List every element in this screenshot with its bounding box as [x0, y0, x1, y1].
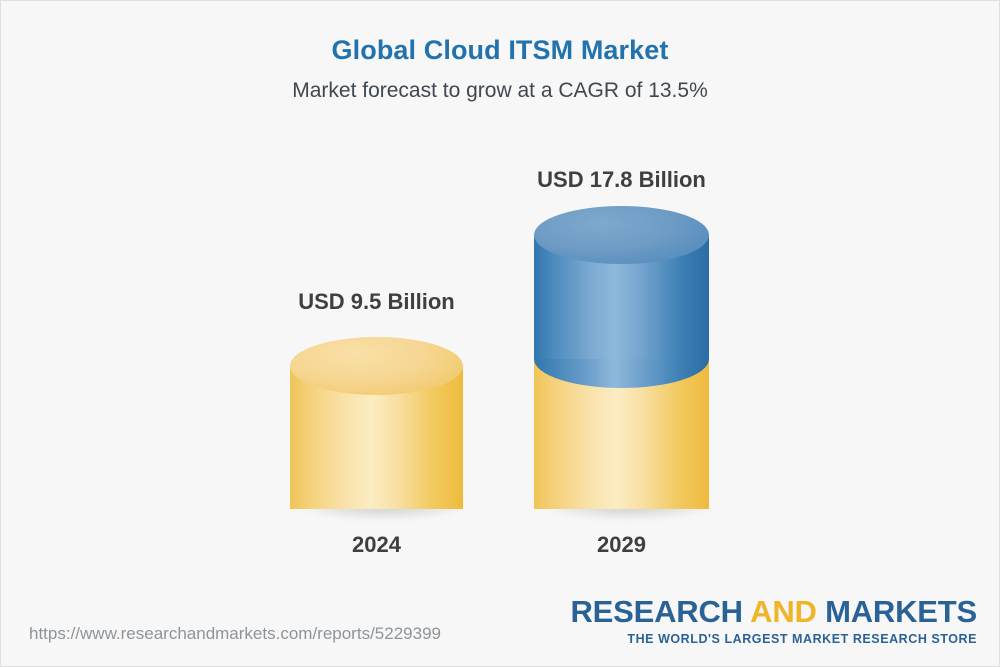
- cylinder-segment-base: [290, 366, 463, 509]
- cylinder-top-ellipse: [534, 206, 709, 264]
- cylinder-segment-growth: [534, 235, 709, 359]
- cylinder-2024[interactable]: [290, 366, 463, 509]
- source-url[interactable]: https://www.researchandmarkets.com/repor…: [29, 624, 441, 644]
- bar-group-2029: USD 17.8 Billion 2029: [534, 1, 709, 667]
- bar-value-label-2029: USD 17.8 Billion: [534, 167, 709, 193]
- brand-name-markets: MARKETS: [817, 594, 977, 629]
- bar-group-2024: USD 9.5 Billion 2024: [290, 1, 463, 667]
- brand-name-and: AND: [750, 594, 817, 629]
- brand-name-research: RESEARCH: [571, 594, 751, 629]
- bar-value-label-2024: USD 9.5 Billion: [290, 289, 463, 315]
- cylinder-2029[interactable]: [534, 235, 709, 509]
- brand-name: RESEARCH AND MARKETS: [571, 596, 978, 627]
- brand-tagline: THE WORLD'S LARGEST MARKET RESEARCH STOR…: [571, 632, 978, 646]
- category-label-2024: 2024: [290, 532, 463, 558]
- brand-logo[interactable]: RESEARCH AND MARKETS THE WORLD'S LARGEST…: [571, 596, 978, 646]
- infographic-canvas: Global Cloud ITSM Market Market forecast…: [0, 0, 1000, 667]
- category-label-2029: 2029: [534, 532, 709, 558]
- cylinder-top-ellipse: [290, 337, 463, 395]
- chart-plot-area: USD 9.5 Billion 2024 USD 17.8 Billion: [1, 1, 1000, 667]
